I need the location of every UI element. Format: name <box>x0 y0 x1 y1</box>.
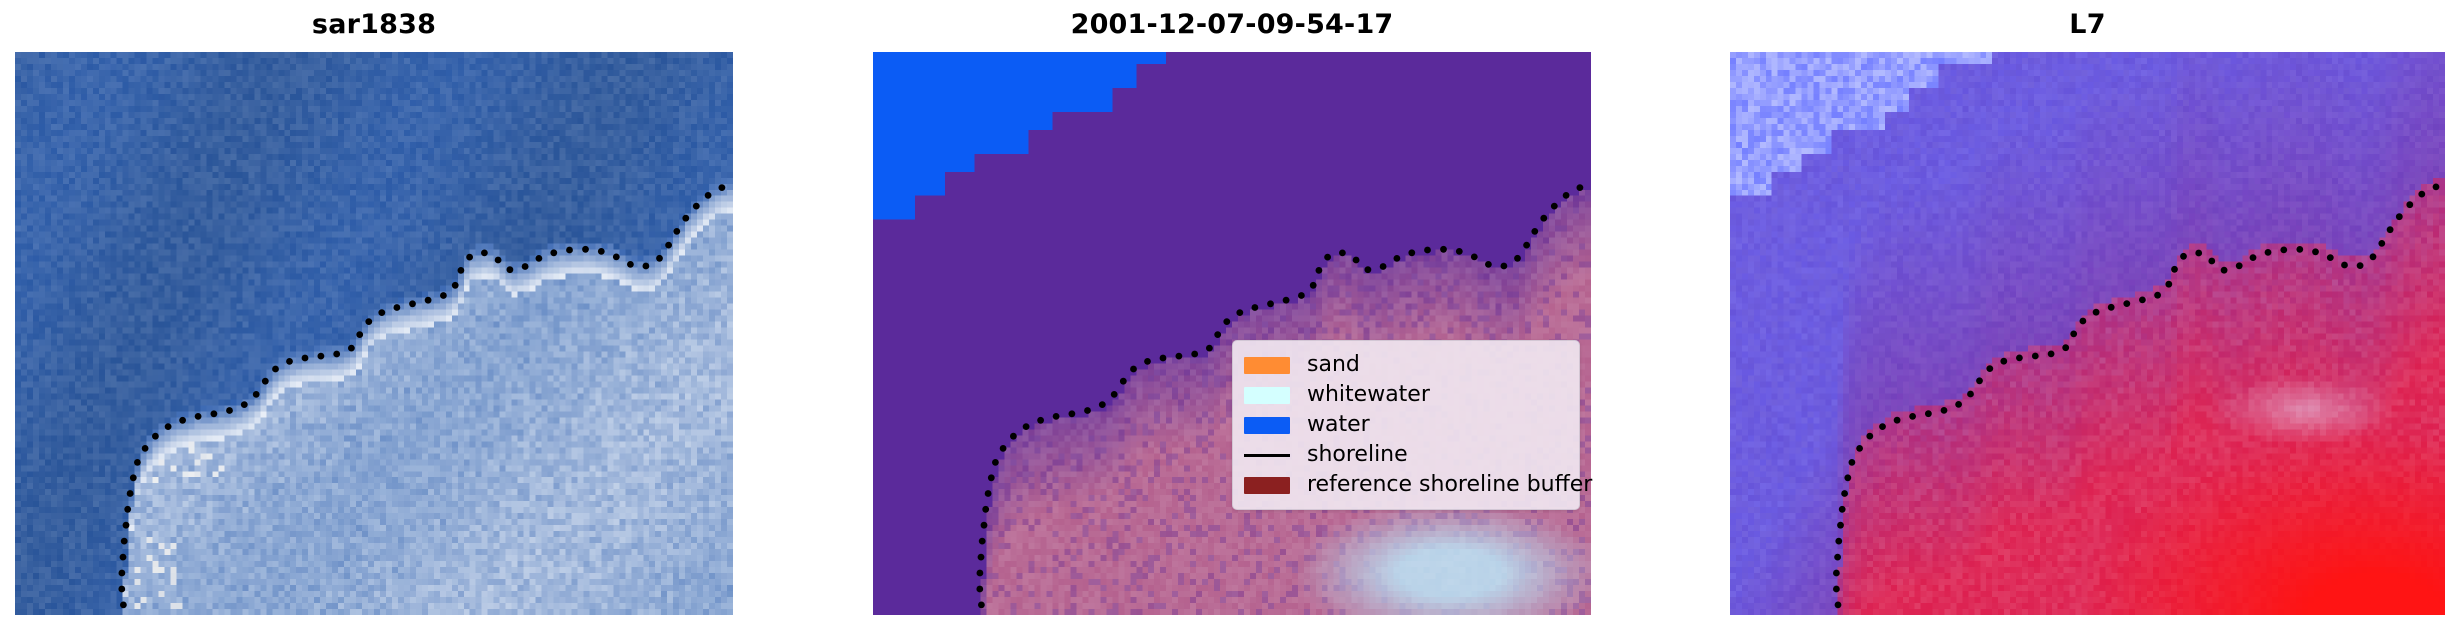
shoreline-dot <box>134 459 141 466</box>
shoreline-dot <box>977 570 984 577</box>
legend-label: sand <box>1307 353 1360 377</box>
legend-label: water <box>1307 413 1370 437</box>
legend-color-swatch <box>1244 417 1290 434</box>
shoreline-dot <box>365 318 372 325</box>
shoreline-dot <box>1267 300 1274 307</box>
shoreline-dot <box>992 459 999 466</box>
shoreline-dot <box>2123 300 2130 307</box>
shoreline-dot <box>440 292 447 299</box>
shoreline-dot <box>1120 378 1127 385</box>
shoreline-dot <box>1967 391 1974 398</box>
shoreline-dot <box>1540 215 1547 222</box>
shoreline-dot <box>582 246 589 253</box>
shoreline-dot <box>665 242 672 249</box>
shoreline-dot <box>120 554 127 561</box>
shoreline-dot <box>536 255 543 262</box>
shoreline-dot <box>2221 267 2228 274</box>
shoreline-dot <box>378 309 385 316</box>
legend-color-swatch <box>1244 357 1290 374</box>
shoreline-dot <box>981 522 988 529</box>
panel-l7: L7 <box>1730 0 2445 630</box>
shoreline-dot <box>123 522 130 529</box>
shoreline-dot <box>705 192 712 199</box>
shoreline-dot <box>2093 309 2100 316</box>
shoreline-dot <box>1310 282 1317 289</box>
shoreline-dot <box>613 254 620 261</box>
shoreline-dot <box>982 506 989 513</box>
shoreline-dot <box>1834 554 1841 561</box>
shoreline-dot <box>627 261 634 268</box>
legend-row: water <box>1244 410 1566 440</box>
shoreline-dot <box>1501 263 1508 270</box>
shoreline-dot <box>1844 474 1851 481</box>
shoreline-dot <box>1316 267 1323 274</box>
shoreline-dot <box>2016 355 2023 362</box>
shoreline-dot <box>1833 570 1840 577</box>
shoreline-dot <box>1283 297 1290 304</box>
shoreline-dot <box>2154 292 2161 299</box>
shoreline-dot <box>643 263 650 270</box>
shoreline-dot <box>1837 522 1844 529</box>
shoreline-dot <box>119 570 126 577</box>
shoreline-dot <box>2171 266 2178 273</box>
shoreline-dot <box>1841 490 1848 497</box>
legend-row: shoreline <box>1244 440 1566 470</box>
shoreline-dot <box>598 248 605 255</box>
shoreline-dot <box>1856 445 1863 452</box>
shoreline-dot <box>481 250 488 257</box>
shoreline-dot <box>1456 248 1463 255</box>
shoreline-dot <box>1563 192 1570 199</box>
shoreline-dot <box>2341 262 2348 269</box>
shoreline-dot <box>2387 226 2394 233</box>
shoreline-dot <box>978 602 985 609</box>
shoreline-dot <box>1206 345 1213 352</box>
shoreline-dot <box>1986 365 1993 372</box>
shoreline-dot <box>507 266 514 273</box>
shoreline-dot <box>2378 240 2385 247</box>
shoreline-dot <box>1099 401 1106 408</box>
shoreline-dot <box>979 538 986 545</box>
shoreline-dot <box>976 586 983 593</box>
shoreline-dot <box>356 331 363 338</box>
shoreline-dot <box>348 345 355 352</box>
legend-line-marker <box>1244 447 1290 464</box>
shoreline-dot <box>1252 304 1259 311</box>
shoreline-dot <box>2312 248 2319 255</box>
shoreline-dot <box>121 538 128 545</box>
shoreline-dot <box>1523 242 1530 249</box>
shoreline-dot <box>1339 250 1346 257</box>
shoreline-dot <box>318 353 325 360</box>
shoreline-dot <box>693 203 700 210</box>
shoreline-dot <box>1130 366 1137 373</box>
shoreline-dot <box>2296 246 2303 253</box>
shoreline-dot <box>566 247 573 254</box>
shoreline-dot <box>226 407 233 414</box>
shoreline-dot <box>2000 358 2007 365</box>
shoreline-dot <box>1424 247 1431 254</box>
shoreline-line-icon <box>1244 454 1290 457</box>
shoreline-dot <box>2406 201 2413 208</box>
shoreline-dot <box>394 304 401 311</box>
shoreline-dot <box>1084 407 1091 414</box>
shoreline-dot <box>1236 309 1243 316</box>
shoreline-dot <box>302 355 309 362</box>
shoreline-dot <box>978 554 985 561</box>
panel-sar1838: sar1838 <box>15 0 733 630</box>
panel-title-date: 2001-12-07-09-54-17 <box>873 8 1591 42</box>
shoreline-dot <box>1144 358 1151 365</box>
shoreline-dot <box>1551 203 1558 210</box>
shoreline-dot <box>988 474 995 481</box>
shoreline-dot <box>195 413 202 420</box>
shoreline-dot <box>2280 247 2287 254</box>
shoreline-dot <box>2108 304 2115 311</box>
shoreline-dot <box>2433 184 2440 191</box>
shoreline-dot <box>1023 423 1030 430</box>
shoreline-dot <box>1440 246 1447 253</box>
shoreline-dot <box>118 586 125 593</box>
shoreline-dot <box>1365 266 1372 273</box>
shoreline-dot <box>409 300 416 307</box>
legend-color-swatch <box>1244 387 1290 404</box>
shoreline-overlay-sar <box>15 52 733 615</box>
shoreline-dot <box>656 255 663 262</box>
map-legend[interactable]: sandwhitewaterwatershorelinereference sh… <box>1232 340 1580 510</box>
legend-row: whitewater <box>1244 380 1566 410</box>
shoreline-dot <box>333 351 340 358</box>
shoreline-dot <box>253 391 260 398</box>
legend-color-swatch <box>1244 477 1290 494</box>
shoreline-dot <box>272 366 279 373</box>
panel-title-l7: L7 <box>1730 8 2445 42</box>
shoreline-dot <box>2265 249 2272 256</box>
shoreline-dot <box>124 506 131 513</box>
legend-row: reference shoreline buffer <box>1244 470 1566 500</box>
legend-label: shoreline <box>1307 443 1408 467</box>
shoreline-dot <box>1485 261 1492 268</box>
shoreline-dot <box>1835 602 1842 609</box>
shoreline-dot <box>1176 353 1183 360</box>
shoreline-dot <box>1223 318 1230 325</box>
shoreline-dot <box>985 490 992 497</box>
shoreline-dot <box>1191 351 1198 358</box>
shoreline-dot <box>1941 407 1948 414</box>
axes-sar <box>15 52 733 615</box>
shoreline-dot <box>1160 355 1167 362</box>
shoreline-dot <box>2357 262 2364 269</box>
shoreline-dot <box>425 297 432 304</box>
shoreline-dot <box>2062 344 2069 351</box>
shoreline-dot <box>1380 263 1387 270</box>
shoreline-dot <box>1394 255 1401 262</box>
shoreline-dot <box>2195 250 2202 257</box>
shoreline-dot <box>2165 281 2172 288</box>
shoreline-dot <box>1879 423 1886 430</box>
legend-label: reference shoreline buffer <box>1307 473 1592 497</box>
shoreline-dot <box>1111 391 1118 398</box>
shoreline-dot <box>241 401 248 408</box>
shoreline-dot <box>2208 258 2215 265</box>
shoreline-dot <box>1925 410 1932 417</box>
shoreline-dot <box>1577 184 1584 191</box>
shoreline-dot <box>1000 445 1007 452</box>
shoreline-dot <box>1471 254 1478 261</box>
legend-row: sand <box>1244 350 1566 380</box>
shoreline-dot <box>1408 249 1415 256</box>
shoreline-dot <box>152 433 159 440</box>
shoreline-dot <box>2236 262 2243 269</box>
shoreline-dot <box>1324 254 1331 261</box>
shoreline-dot <box>1531 228 1538 235</box>
shoreline-dot <box>142 445 149 452</box>
shoreline-dot <box>120 602 127 609</box>
legend-label: whitewater <box>1307 383 1430 407</box>
axes-classification <box>873 52 1591 615</box>
shoreline-dot <box>2418 191 2425 198</box>
shoreline-dot <box>262 378 269 385</box>
shoreline-dot <box>2032 353 2039 360</box>
shoreline-dot <box>1053 413 1060 420</box>
figure-canvas: sar1838 2001-12-07-09-54-17 L7 sandwhite… <box>0 0 2460 630</box>
shoreline-dot <box>2250 254 2257 261</box>
shoreline-dot <box>1955 401 1962 408</box>
shoreline-dot <box>2048 351 2055 358</box>
shoreline-overlay-classification <box>873 52 1591 615</box>
shoreline-dot <box>165 423 172 430</box>
shoreline-dot <box>2180 253 2187 260</box>
shoreline-dot <box>682 215 689 222</box>
shoreline-dot <box>452 282 459 289</box>
shoreline-dot <box>550 249 557 256</box>
shoreline-dot <box>1214 331 1221 338</box>
shoreline-overlay-l7 <box>1730 52 2445 615</box>
panel-classification: 2001-12-07-09-54-17 <box>873 0 1591 630</box>
shoreline-dot <box>1839 506 1846 513</box>
shoreline-dot <box>211 410 218 417</box>
shoreline-dot <box>1010 433 1017 440</box>
shoreline-dot <box>2327 254 2334 261</box>
shoreline-dot <box>179 417 186 424</box>
shoreline-dot <box>2070 331 2077 338</box>
panel-title-sar: sar1838 <box>15 8 733 42</box>
shoreline-dot <box>466 254 473 261</box>
shoreline-dot <box>522 263 529 270</box>
shoreline-dot <box>1069 410 1076 417</box>
shoreline-dot <box>1976 377 1983 384</box>
shoreline-dot <box>719 184 726 191</box>
shoreline-dot <box>673 228 680 235</box>
shoreline-dot <box>495 257 502 264</box>
shoreline-dot <box>1833 586 1840 593</box>
shoreline-dot <box>127 490 134 497</box>
shoreline-dot <box>1909 413 1916 420</box>
shoreline-dot <box>286 358 293 365</box>
shoreline-dot <box>1037 417 1044 424</box>
shoreline-dot <box>1894 417 1901 424</box>
shoreline-dot <box>2080 318 2087 325</box>
shoreline-dot <box>1514 255 1521 262</box>
shoreline-dot <box>2139 297 2146 304</box>
shoreline-dot <box>458 267 465 274</box>
shoreline-dot <box>1866 433 1873 440</box>
shoreline-dot <box>1353 257 1360 264</box>
shoreline-dot <box>130 474 137 481</box>
shoreline-dot <box>1835 538 1842 545</box>
axes-l7 <box>1730 52 2445 615</box>
shoreline-dot <box>2396 213 2403 220</box>
shoreline-dot <box>1849 459 1856 466</box>
shoreline-dot <box>2370 253 2377 260</box>
shoreline-dot <box>1298 292 1305 299</box>
